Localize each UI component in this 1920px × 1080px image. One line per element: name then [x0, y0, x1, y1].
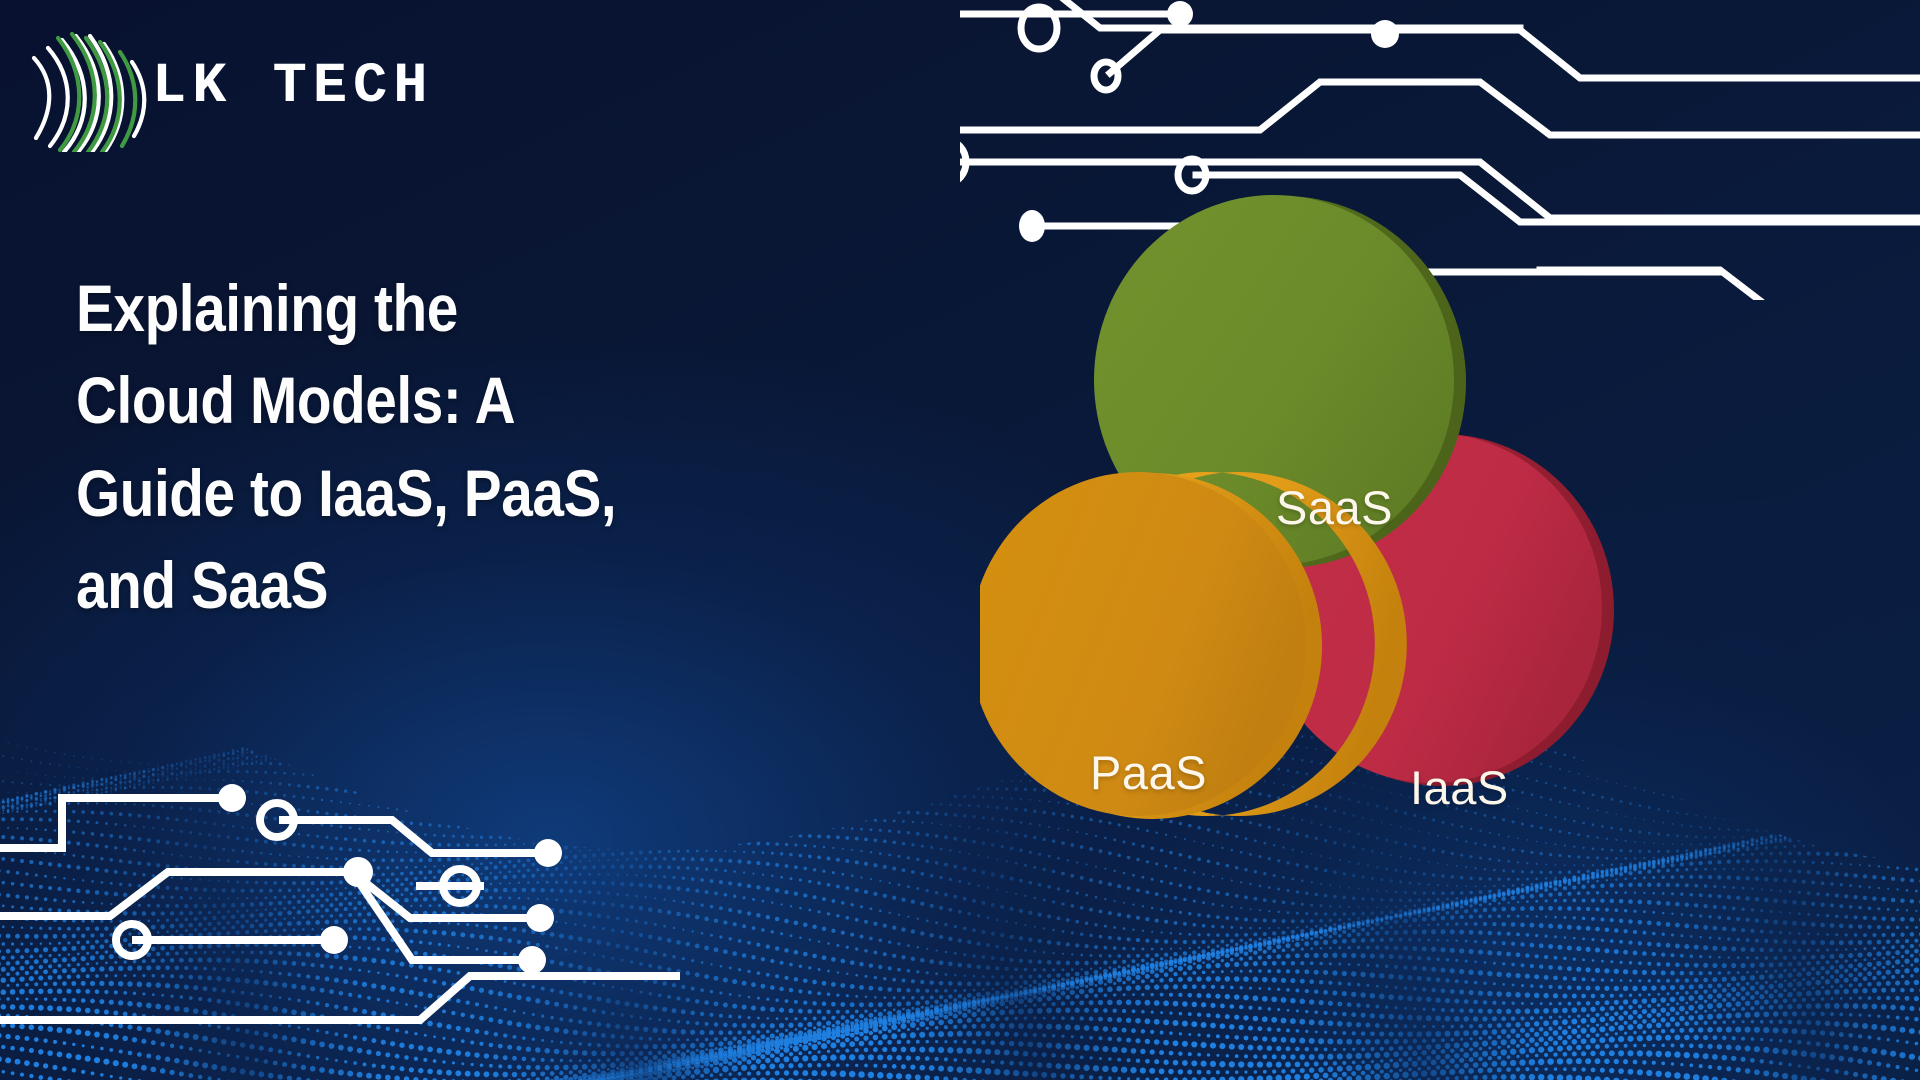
disc-label-iaas: IaaS: [1410, 760, 1509, 815]
headline-line-2: Cloud Models: A: [76, 354, 730, 446]
page-title: Explaining the Cloud Models: A Guide to …: [76, 262, 730, 632]
circuit-trace-bottom-left: [0, 780, 680, 1080]
disc-label-paas: PaaS: [1090, 745, 1207, 800]
sound-wave-arcs-logo-icon: [24, 22, 156, 152]
headline-line-3: Guide to IaaS, PaaS,: [76, 447, 730, 539]
headline-line-4: and SaaS: [76, 539, 730, 631]
brand-name: LK TECH: [152, 59, 433, 116]
brand-logo[interactable]: LK TECH: [24, 22, 444, 152]
headline-line-1: Explaining the: [76, 262, 730, 354]
disc-label-saas: SaaS: [1276, 480, 1393, 535]
banner-root: LK TECH Explaining the Cloud Models: A G…: [0, 0, 1920, 1080]
cloud-models-diagram: SaaS PaaS IaaS: [980, 180, 1740, 920]
